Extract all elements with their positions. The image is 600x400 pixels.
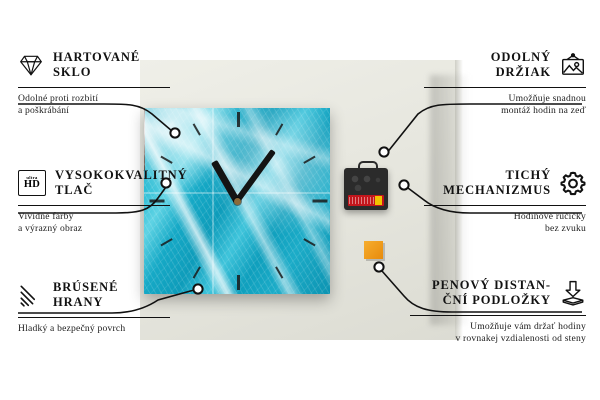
divider [18,205,170,206]
divider [424,205,586,206]
gear-icon [560,170,586,196]
feature-title-line: DRŽIAK [491,65,551,80]
feature-tempered-glass: HARTOVANÉ SKLO Odolné proti rozbití a po… [18,50,170,118]
feature-subtitle-line: Vivídne farby [18,211,170,224]
feature-ground-edges: BRÚSENÉ HRANY Hladký a bezpečný povrch [18,280,170,335]
leader-dot-mechanism [399,180,408,189]
feature-title: PENOVÝ DISTAN- ČNÍ PODLOŽKY [432,278,551,309]
feature-title-line: HRANY [53,295,118,310]
feature-subtitle-line: bez zvuku [424,223,586,236]
feature-title-line: TICHÝ [443,168,551,183]
feature-subtitle-line: v rovnakej vzdialenosti od steny [410,333,586,346]
feature-title: ODOLNÝ DRŽIAK [491,50,551,81]
feature-subtitle-line: Umožňuje vám držať hodiny [410,321,586,334]
feature-subtitle: Hodinové ručičky bez zvuku [424,211,586,237]
feature-title-line: VYSOKOKVALITNÝ [55,168,188,183]
diamond-icon [18,52,44,78]
infographic-canvas: HARTOVANÉ SKLO Odolné proti rozbití a po… [0,0,600,400]
feature-title-line: BRÚSENÉ [53,280,118,295]
divider [424,87,586,88]
feature-title-line: MECHANIZMUS [443,183,551,198]
ground-edges-icon [18,282,44,308]
divider [18,87,170,88]
feature-high-quality-print: ultra HD VYSOKOKVALITNÝ TLAČ Vivídne far… [18,168,170,236]
feature-title: VYSOKOKVALITNÝ TLAČ [55,168,188,199]
divider [410,315,586,316]
feature-title-line: HARTOVANÉ [53,50,140,65]
feature-silent-mechanism: TICHÝ MECHANIZMUS Hodinové ručičky bez z… [424,168,586,236]
feature-title-line: ČNÍ PODLOŽKY [432,293,551,308]
feature-subtitle-line: Umožňuje snadnou [424,93,586,106]
arrow-down-layers-icon [560,280,586,306]
feature-subtitle-line: Odolné proti rozbití [18,93,170,106]
feature-title: HARTOVANÉ SKLO [53,50,140,81]
feature-title-line: ODOLNÝ [491,50,551,65]
leader-dot-hanger [379,147,388,156]
feature-subtitle: Hladký a bezpečný povrch [18,323,170,336]
feature-subtitle-line: montáž hodin na zeď [424,105,586,118]
feature-subtitle: Umožňuje vám držať hodiny v rovnakej vzd… [410,321,586,347]
leader-dot-edges [193,284,202,293]
feature-subtitle: Vivídne farby a výrazný obraz [18,211,170,237]
ultra-hd-icon: ultra HD [18,170,46,196]
picture-frame-hanger-icon [560,52,586,78]
feature-title-line: SKLO [53,65,140,80]
feature-durable-hanger: ODOLNÝ DRŽIAK Umožňuje snadnou montáž ho… [424,50,586,118]
leader-dot-foam [374,262,383,271]
feature-subtitle-line: Hodinové ručičky [424,211,586,224]
feature-title-line: TLAČ [55,183,188,198]
divider [18,317,170,318]
feature-subtitle-line: Hladký a bezpečný povrch [18,323,170,336]
feature-title: BRÚSENÉ HRANY [53,280,118,311]
feature-subtitle: Umožňuje snadnou montáž hodin na zeď [424,93,586,119]
feature-subtitle-line: a poškrábání [18,105,170,118]
leader-dot-tempered-glass [170,128,179,137]
feature-foam-spacers: PENOVÝ DISTAN- ČNÍ PODLOŽKY Umožňuje vám… [410,278,586,346]
ultra-hd-main-text: HD [24,180,40,191]
feature-subtitle: Odolné proti rozbití a poškrábání [18,93,170,119]
feature-title: TICHÝ MECHANIZMUS [443,168,551,199]
feature-subtitle-line: a výrazný obraz [18,223,170,236]
feature-title-line: PENOVÝ DISTAN- [432,278,551,293]
